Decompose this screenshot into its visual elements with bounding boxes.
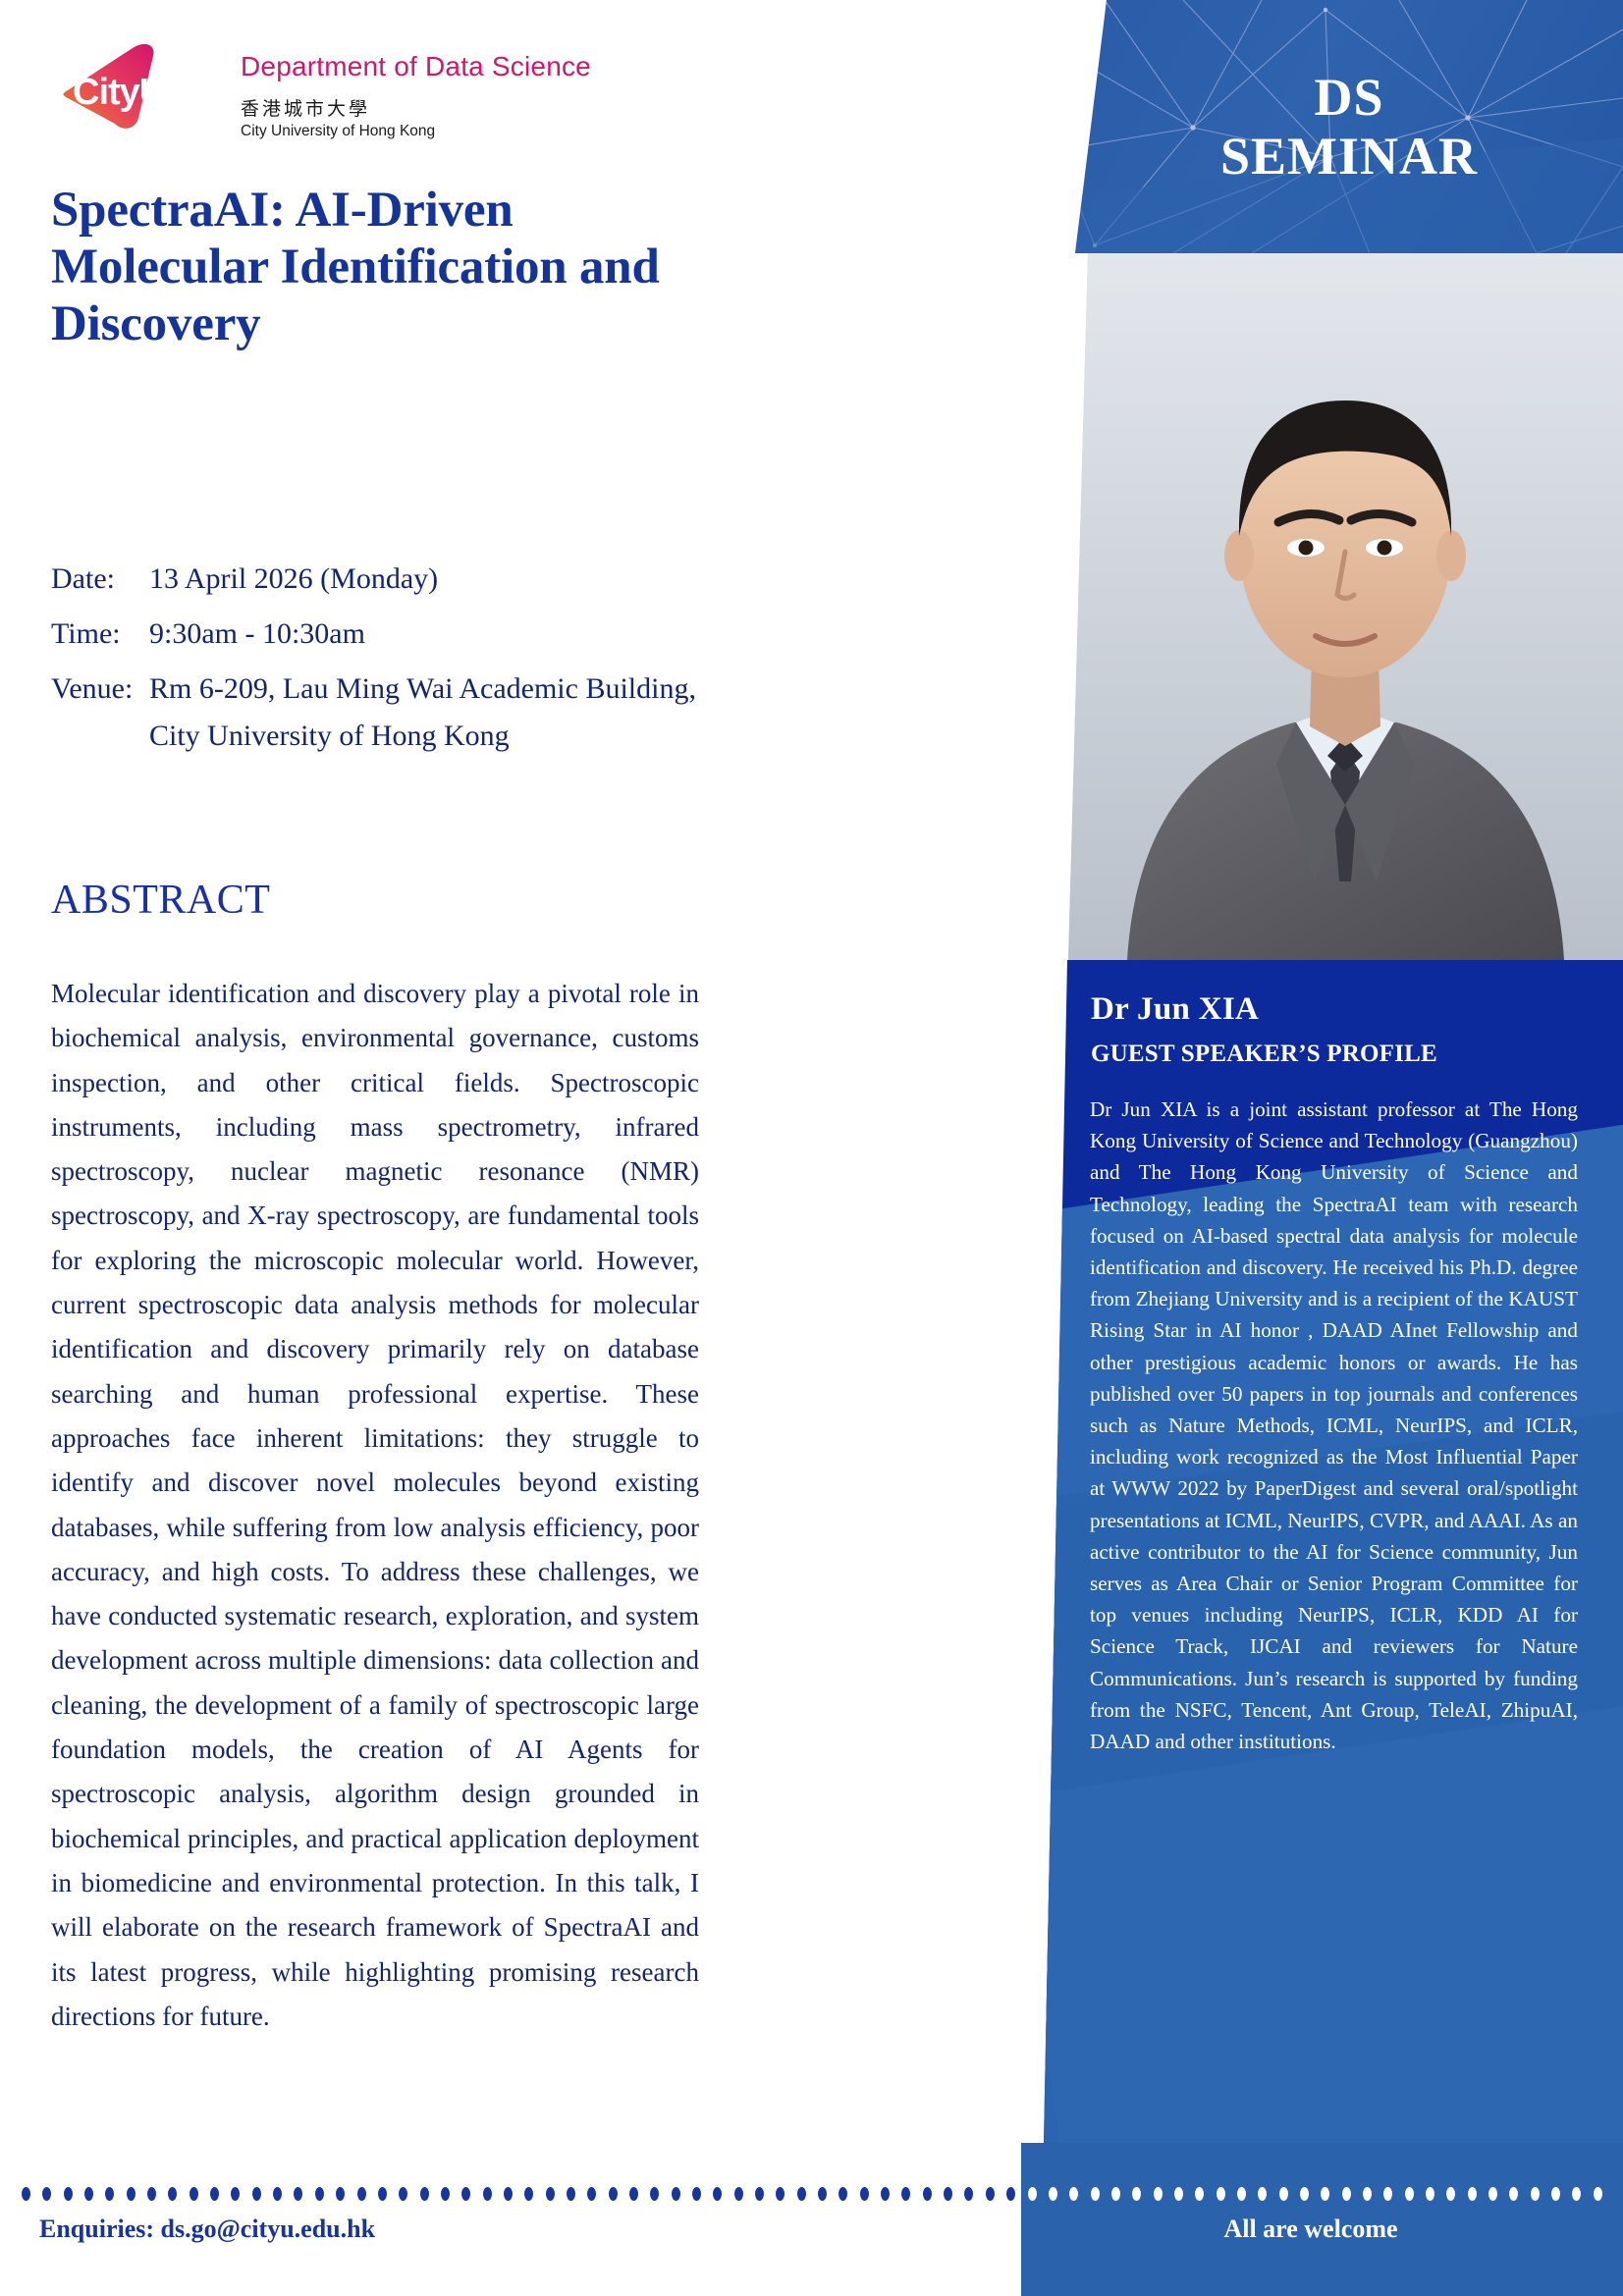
divider-dot xyxy=(546,2187,555,2201)
university-name-zh: 香港城市大學 xyxy=(241,94,591,121)
divider-dot xyxy=(797,2187,806,2201)
divider-dot xyxy=(1237,2187,1246,2201)
detail-value-venue-line2: City University of Hong Kong xyxy=(149,721,709,751)
detail-label-venue: Venue: xyxy=(51,674,149,751)
divider-dot xyxy=(1154,2187,1163,2201)
divider-dot xyxy=(692,2187,701,2201)
speaker-name: Dr Jun XIA xyxy=(1091,991,1259,1028)
divider-dot xyxy=(357,2187,366,2201)
divider-dot xyxy=(441,2187,450,2201)
detail-row-date: Date: 13 April 2026 (Monday) xyxy=(51,564,709,594)
divider-dot xyxy=(336,2187,345,2201)
divider-dot xyxy=(84,2187,93,2201)
divider-dot xyxy=(1426,2187,1434,2201)
divider-dot xyxy=(64,2187,73,2201)
divider-dot xyxy=(860,2187,869,2201)
speaker-bio: Dr Jun XIA is a joint assistant professo… xyxy=(1090,1094,1578,1757)
divider-dot xyxy=(881,2187,890,2201)
divider-dot xyxy=(210,2187,219,2201)
abstract-heading: ABSTRACT xyxy=(51,877,270,924)
department-name: Department of Data Science xyxy=(241,51,591,82)
divider-dot xyxy=(1342,2187,1351,2201)
divider-dot xyxy=(901,2187,910,2201)
divider-dot xyxy=(420,2187,429,2201)
divider-dot xyxy=(1174,2187,1183,2201)
university-name-en: City University of Hong Kong xyxy=(241,123,591,140)
divider-dot xyxy=(1258,2187,1267,2201)
divider-dot xyxy=(1509,2187,1518,2201)
divider-dot xyxy=(1446,2187,1455,2201)
divider-dot xyxy=(1383,2187,1392,2201)
divider-dot xyxy=(1132,2187,1141,2201)
speaker-profile-content: Dr Jun XIA GUEST SPEAKER’S PROFILE Dr Ju… xyxy=(1044,960,1623,2143)
divider-dot xyxy=(1279,2187,1288,2201)
divider-dot xyxy=(944,2187,952,2201)
department-text: Department of Data Science 香港城市大學 City U… xyxy=(241,39,591,140)
cityu-logo-icon: CityU xyxy=(54,39,223,133)
divider-dot xyxy=(776,2187,784,2201)
divider-dot xyxy=(1363,2187,1372,2201)
divider-dot xyxy=(1594,2187,1602,2201)
divider-dot xyxy=(1069,2187,1078,2201)
divider-dot xyxy=(818,2187,827,2201)
divider-dot xyxy=(1006,2187,1015,2201)
divider-dot xyxy=(587,2187,596,2201)
network-graphic xyxy=(1075,0,1623,253)
divider-dot xyxy=(755,2187,764,2201)
divider-dot xyxy=(734,2187,743,2201)
divider-dot xyxy=(378,2187,387,2201)
speaker-role-heading: GUEST SPEAKER’S PROFILE xyxy=(1091,1041,1437,1068)
detail-value-venue: Rm 6-209, Lau Ming Wai Academic Building… xyxy=(149,674,709,751)
divider-dot xyxy=(189,2187,198,2201)
divider-dot xyxy=(524,2187,533,2201)
divider-dot xyxy=(399,2187,407,2201)
cityu-mark-svg: CityU xyxy=(54,39,223,133)
enquiries-text: Enquiries: ds.go@cityu.edu.hk xyxy=(39,2215,375,2244)
svg-text:CityU: CityU xyxy=(73,72,165,113)
divider-dot xyxy=(504,2187,513,2201)
divider-dot xyxy=(1049,2187,1057,2201)
divider-dot xyxy=(168,2187,177,2201)
divider-dot xyxy=(1300,2187,1309,2201)
dotted-divider xyxy=(22,2187,1602,2201)
event-details: Date: 13 April 2026 (Monday) Time: 9:30a… xyxy=(51,564,709,776)
divider-dot xyxy=(1111,2187,1120,2201)
divider-dot xyxy=(1572,2187,1581,2201)
cityu-logo-block: CityU Department of Data Science 香港城市大學 … xyxy=(54,39,591,140)
divider-dot xyxy=(1468,2187,1477,2201)
divider-dot xyxy=(672,2187,680,2201)
speaker-portrait-illustration xyxy=(1068,253,1623,960)
abstract-body: Molecular identification and discovery p… xyxy=(51,972,699,2039)
detail-row-time: Time: 9:30am - 10:30am xyxy=(51,619,709,649)
divider-dot xyxy=(483,2187,492,2201)
divider-dot xyxy=(1091,2187,1100,2201)
divider-dot xyxy=(315,2187,324,2201)
detail-row-venue: Venue: Rm 6-209, Lau Ming Wai Academic B… xyxy=(51,674,709,751)
divider-dot xyxy=(42,2187,51,2201)
ds-seminar-banner xyxy=(1075,0,1623,253)
divider-dot xyxy=(294,2187,302,2201)
divider-dot xyxy=(461,2187,470,2201)
divider-dot xyxy=(252,2187,261,2201)
divider-dot xyxy=(1551,2187,1560,2201)
divider-dot xyxy=(231,2187,240,2201)
divider-dot xyxy=(105,2187,114,2201)
all-are-welcome-text: All are welcome xyxy=(1021,2215,1600,2244)
divider-dot xyxy=(964,2187,973,2201)
divider-dot xyxy=(839,2187,847,2201)
divider-dot xyxy=(986,2187,995,2201)
divider-dot xyxy=(22,2187,30,2201)
detail-label-date: Date: xyxy=(51,564,149,594)
detail-label-time: Time: xyxy=(51,619,149,649)
divider-dot xyxy=(1321,2187,1329,2201)
divider-dot xyxy=(1405,2187,1414,2201)
speaker-photo xyxy=(1068,253,1623,960)
divider-dot xyxy=(1195,2187,1204,2201)
divider-dot xyxy=(713,2187,722,2201)
divider-dot xyxy=(650,2187,659,2201)
divider-dot xyxy=(127,2187,135,2201)
divider-dot xyxy=(1531,2187,1540,2201)
divider-dot xyxy=(609,2187,618,2201)
detail-value-time: 9:30am - 10:30am xyxy=(149,619,709,649)
page-title: SpectraAI: AI-Driven Molecular Identific… xyxy=(51,182,699,352)
divider-dot xyxy=(273,2187,282,2201)
divider-dot xyxy=(923,2187,932,2201)
divider-dot xyxy=(147,2187,156,2201)
divider-dot xyxy=(567,2187,575,2201)
divider-dot xyxy=(629,2187,638,2201)
detail-value-date: 13 April 2026 (Monday) xyxy=(149,564,709,594)
divider-dot xyxy=(1217,2187,1225,2201)
detail-value-venue-line1: Rm 6-209, Lau Ming Wai Academic Building… xyxy=(149,672,696,705)
divider-dot xyxy=(1488,2187,1497,2201)
divider-dot xyxy=(1028,2187,1037,2201)
